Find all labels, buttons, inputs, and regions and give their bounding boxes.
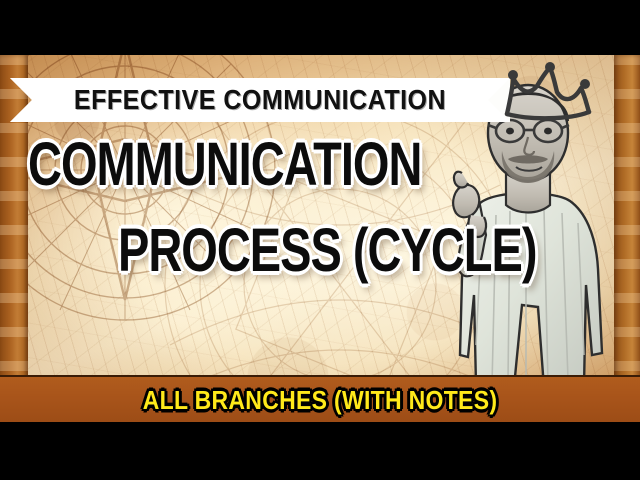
letterbox-bottom: [0, 422, 640, 480]
presenter-eye-left: [506, 128, 514, 135]
ribbon-banner: EFFECTIVE COMMUNICATION: [10, 78, 510, 122]
crown-doodle-icon: [495, 62, 605, 124]
thumbnail-canvas: EFFECTIVE COMMUNICATION COMMUNICATION PR…: [0, 0, 640, 480]
headline-line-1: COMMUNICATION: [28, 133, 421, 194]
headline-line-2: PROCESS (CYCLE): [118, 219, 537, 280]
ribbon-label: EFFECTIVE COMMUNICATION: [74, 84, 446, 116]
presenter-eye-right: [544, 128, 552, 135]
footer-bar: ALL BRANCHES (WITH NOTES): [0, 375, 640, 424]
footer-label: ALL BRANCHES (WITH NOTES): [143, 385, 498, 415]
presenter-hand: [453, 185, 479, 217]
presenter-thumb: [454, 172, 468, 188]
letterbox-top: [0, 0, 640, 55]
